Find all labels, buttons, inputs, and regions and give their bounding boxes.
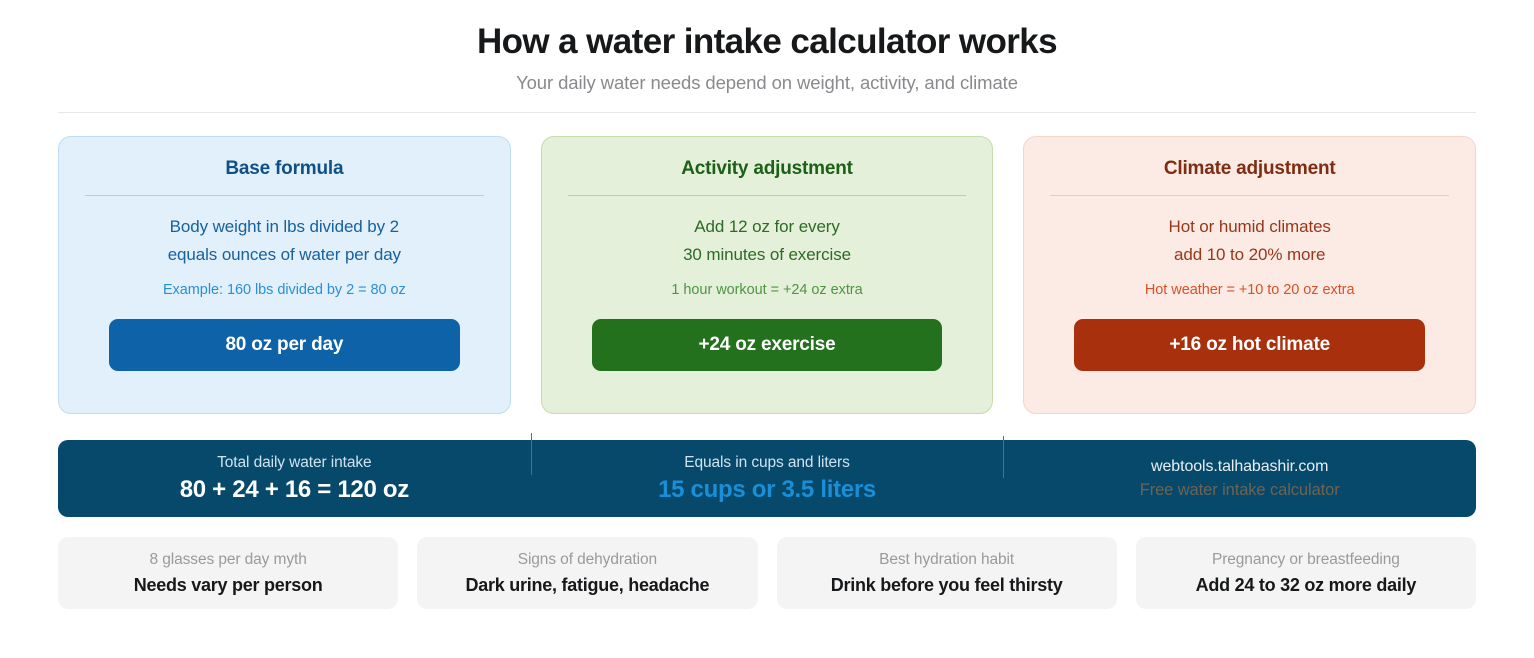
card-line-1: Hot or humid climates (1169, 213, 1331, 241)
card-body: Add 12 oz for every 30 minutes of exerci… (683, 213, 851, 269)
card-line-2: 30 minutes of exercise (683, 241, 851, 269)
page-subtitle: Your daily water needs depend on weight,… (58, 72, 1476, 94)
card-climate-adjustment: Climate adjustment Hot or humid climates… (1023, 136, 1476, 414)
fact-card: Best hydration habit Drink before you fe… (777, 537, 1117, 609)
card-title-divider (568, 195, 967, 196)
page-title: How a water intake calculator works (58, 22, 1476, 61)
header-divider (58, 112, 1476, 113)
summary-conversion-label: Equals in cups and liters (541, 454, 994, 473)
card-line-1: Add 12 oz for every (683, 213, 851, 241)
fact-value: Add 24 to 32 oz more daily (1196, 575, 1417, 596)
fact-value: Drink before you feel thirsty (831, 575, 1063, 596)
summary-conversion: Equals in cups and liters 15 cups or 3.5… (531, 454, 1004, 504)
fact-label: Signs of dehydration (518, 551, 657, 570)
card-example-note: 1 hour workout = +24 oz extra (671, 282, 862, 298)
card-base-formula: Base formula Body weight in lbs divided … (58, 136, 511, 414)
card-result-pill[interactable]: +16 oz hot climate (1074, 319, 1425, 371)
card-title: Base formula (225, 159, 343, 180)
brand-url[interactable]: webtools.talhabashir.com (1013, 457, 1466, 476)
card-example-note: Hot weather = +10 to 20 oz extra (1145, 282, 1355, 298)
card-title: Climate adjustment (1164, 159, 1336, 180)
card-activity-adjustment: Activity adjustment Add 12 oz for every … (541, 136, 994, 414)
brand-tagline: Free water intake calculator (1013, 481, 1466, 500)
card-title-divider (85, 195, 484, 196)
fact-value: Needs vary per person (134, 575, 323, 596)
fact-card: Signs of dehydration Dark urine, fatigue… (417, 537, 757, 609)
fact-card: 8 glasses per day myth Needs vary per pe… (58, 537, 398, 609)
card-example-note: Example: 160 lbs divided by 2 = 80 oz (163, 282, 406, 298)
fact-cards: 8 glasses per day myth Needs vary per pe… (58, 537, 1476, 609)
card-result-pill[interactable]: 80 oz per day (109, 319, 460, 371)
feature-cards: Base formula Body weight in lbs divided … (58, 136, 1476, 414)
fact-card: Pregnancy or breastfeeding Add 24 to 32 … (1136, 537, 1476, 609)
fact-label: 8 glasses per day myth (150, 551, 307, 570)
infographic-page: How a water intake calculator works Your… (0, 0, 1534, 658)
fact-label: Pregnancy or breastfeeding (1212, 551, 1400, 570)
card-line-2: add 10 to 20% more (1169, 241, 1331, 269)
summary-brand[interactable]: webtools.talhabashir.com Free water inta… (1003, 457, 1476, 500)
fact-value: Dark urine, fatigue, headache (465, 575, 709, 596)
card-body: Hot or humid climates add 10 to 20% more (1169, 213, 1331, 269)
card-body: Body weight in lbs divided by 2 equals o… (168, 213, 401, 269)
summary-total-value: 80 + 24 + 16 = 120 oz (68, 476, 521, 504)
summary-conversion-value: 15 cups or 3.5 liters (541, 476, 994, 504)
summary-total-label: Total daily water intake (68, 454, 521, 473)
fact-label: Best hydration habit (879, 551, 1014, 570)
card-line-2: equals ounces of water per day (168, 241, 401, 269)
card-line-1: Body weight in lbs divided by 2 (168, 213, 401, 241)
card-title: Activity adjustment (681, 159, 852, 180)
summary-bar: Total daily water intake 80 + 24 + 16 = … (58, 440, 1476, 517)
card-title-divider (1050, 195, 1449, 196)
summary-total: Total daily water intake 80 + 24 + 16 = … (58, 454, 531, 504)
header: How a water intake calculator works Your… (58, 0, 1476, 113)
card-result-pill[interactable]: +24 oz exercise (592, 319, 943, 371)
